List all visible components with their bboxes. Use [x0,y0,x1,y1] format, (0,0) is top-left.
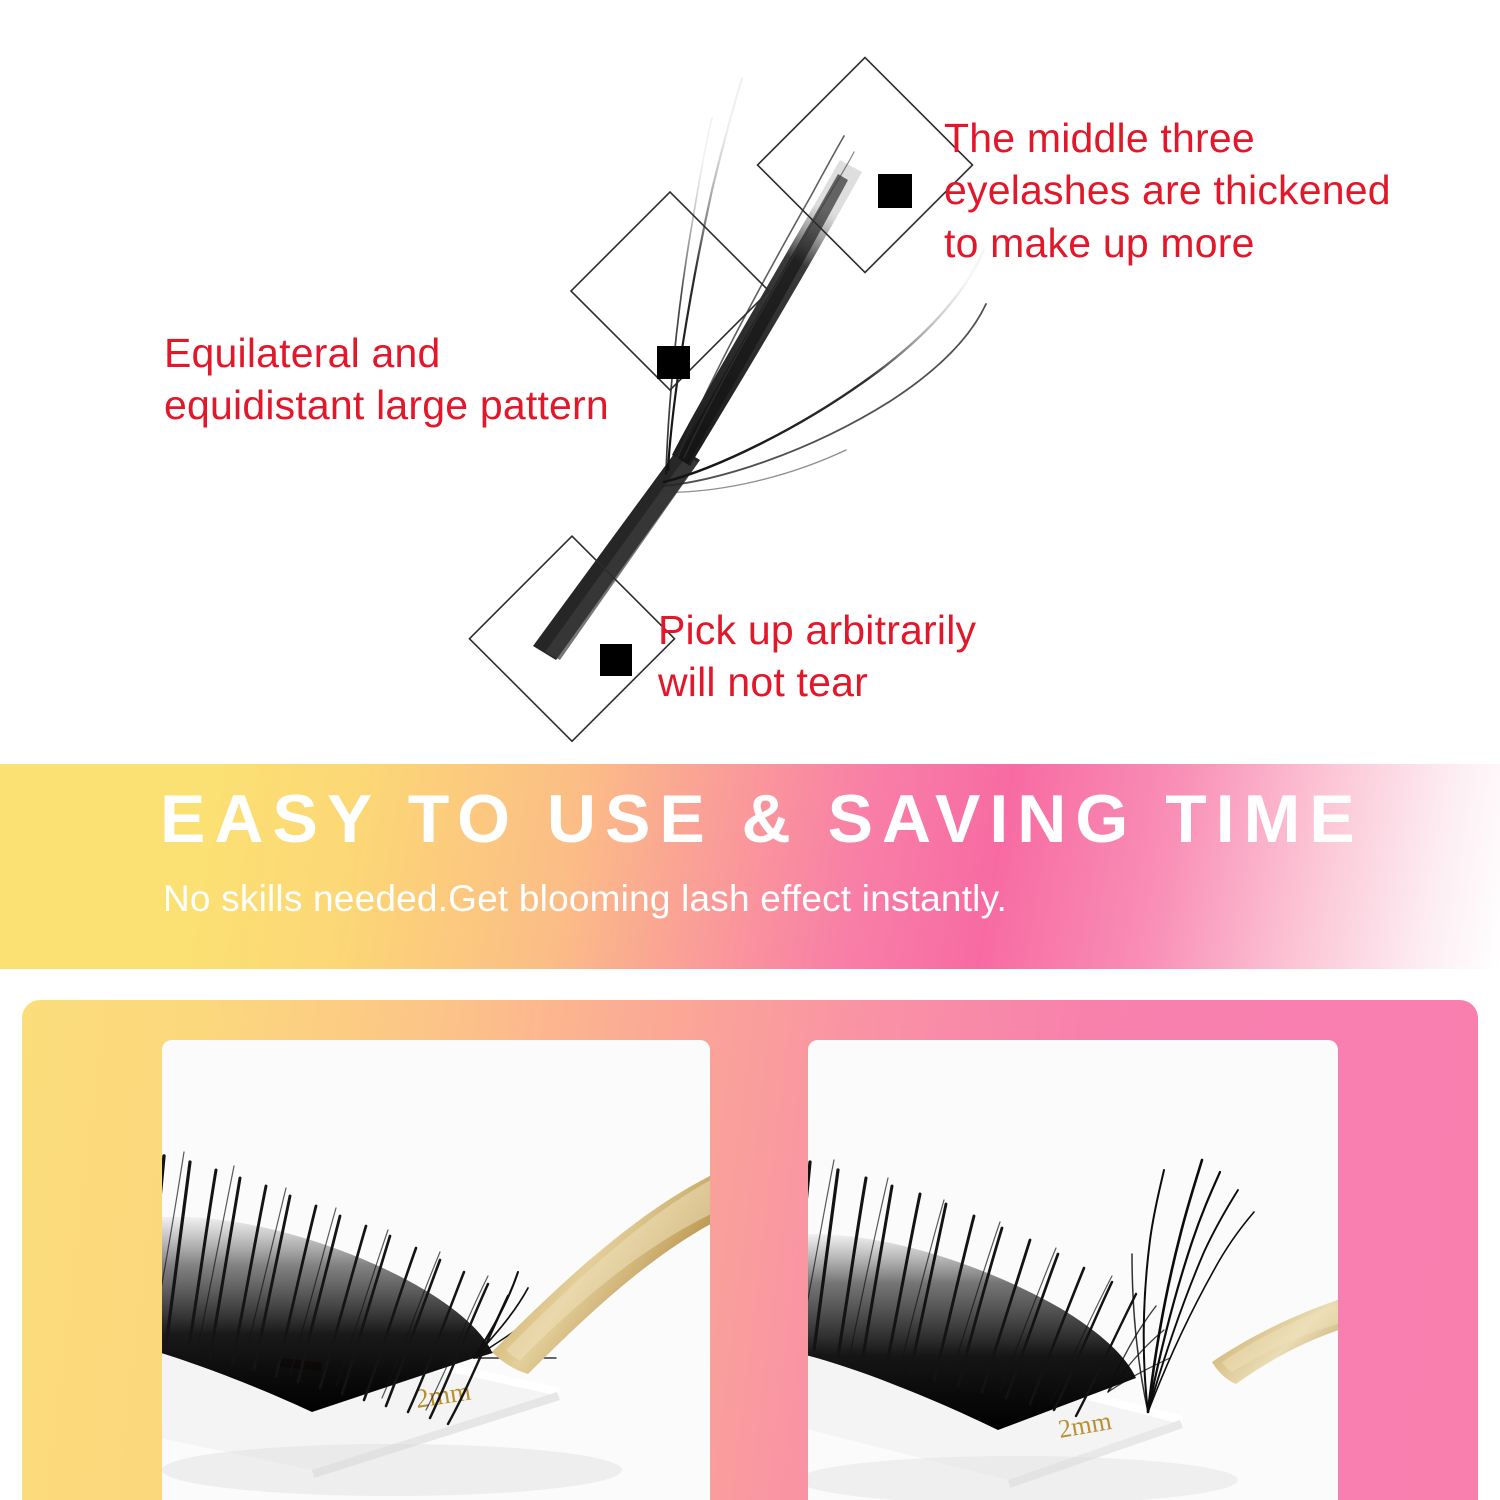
lash-main-stem [672,160,862,466]
promo-banner: EASY TO USE & SAVING TIME No skills need… [0,764,1500,969]
callout-text-middle-three: The middle three eyelashes are thickened… [944,112,1391,269]
product-photo-panel: 2mm [22,1000,1478,1500]
photo-card-right: 2mm [808,1040,1338,1500]
lash-tray-tweezers-photo: 2mm [162,1040,710,1500]
callout-text-pick-up: Pick up arbitrarily will not tear [658,604,976,709]
banner-subtitle: No skills needed.Get blooming lash effec… [163,878,1007,920]
photo-card-left: 2mm [162,1040,710,1500]
callout-marker-middle-three [758,58,973,273]
lash-diagram-section: The middle three eyelashes are thickened… [0,0,1500,764]
callout-text-equilateral: Equilateral and equidistant large patter… [164,327,609,432]
banner-title: EASY TO USE & SAVING TIME [160,780,1364,858]
lash-tray-fan-pickup-photo: 2mm [808,1040,1338,1500]
